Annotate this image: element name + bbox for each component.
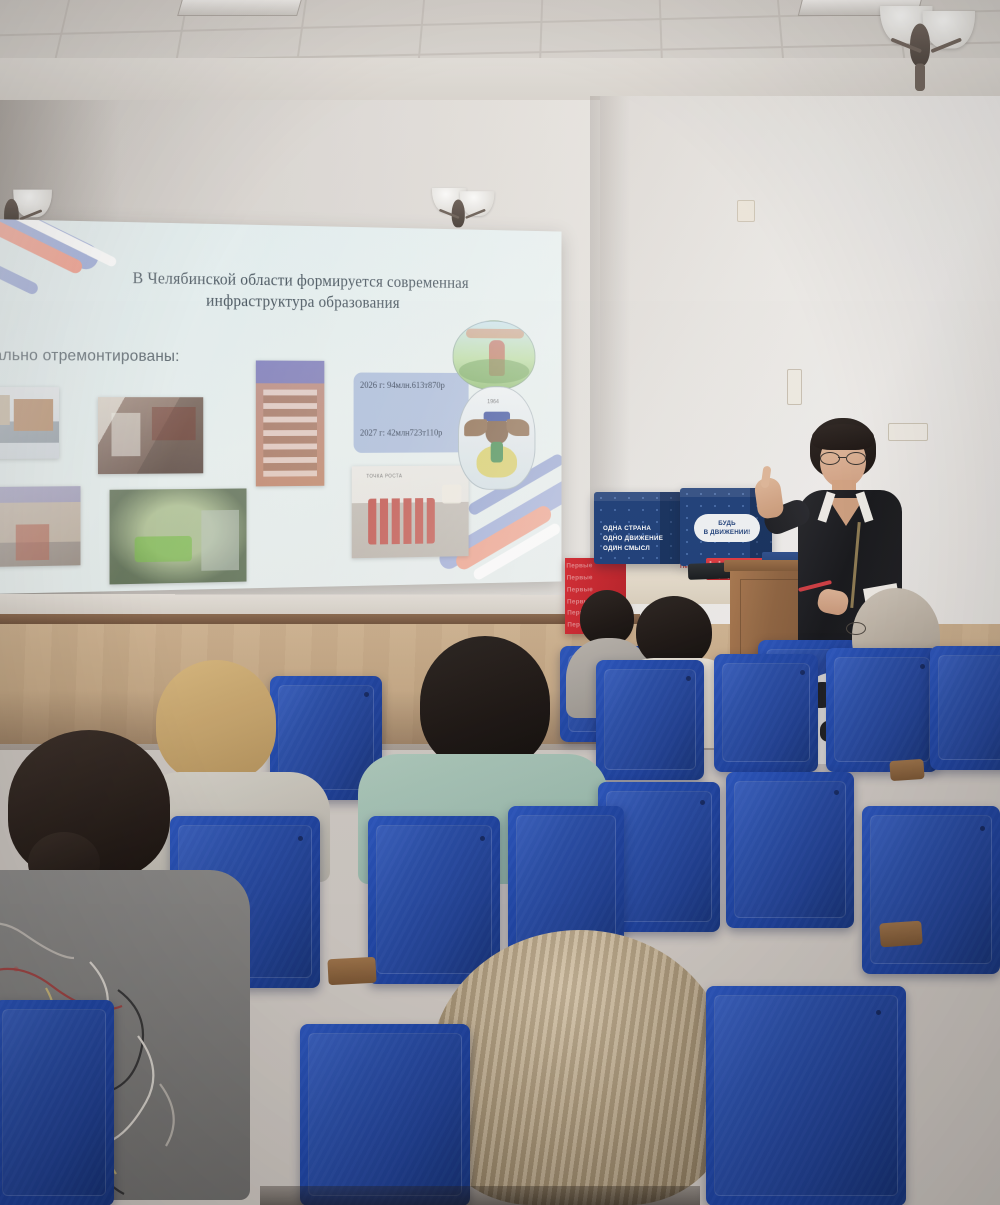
attendee-hair [430, 930, 730, 1205]
auditorium-seat[interactable] [826, 648, 938, 772]
owl-emblem-year: 1964 [487, 399, 499, 405]
tochka-rosta-logo: ТОЧКА РОСТА [366, 474, 402, 480]
branding-cube-left-text: ОДНА СТРАНАОДНО ДВИЖЕНИЕОДИН СМЫСЛ [603, 524, 673, 555]
slide-data-box: 2026 г: 94млн.613т870р 2027 г: 42млн723т… [354, 373, 469, 453]
auditorium-seat[interactable] [368, 816, 500, 984]
presenter-fringe [812, 424, 874, 450]
slide-data-row-2: 2027 г: 42млн723т110р [360, 429, 468, 439]
auditorium-seat[interactable] [726, 772, 854, 928]
slide-subtitle: питально отремонтированы: [0, 347, 258, 366]
owl-school-emblem-icon: 1964 [458, 386, 535, 490]
slide-photo-canteen-corridor [110, 488, 247, 584]
slide-photo-tochka-rosta-team: ТОЧКА РОСТА [352, 465, 469, 558]
auditorium-seat[interactable] [0, 1000, 114, 1205]
seat-armrest [327, 957, 376, 985]
auditorium-seat[interactable] [930, 646, 1000, 770]
branding-cube-right-text: БУДЬВ ДВИЖЕНИИ! [704, 519, 751, 538]
sconce-body [910, 24, 930, 67]
ceiling-panel-light [177, 0, 303, 16]
auditorium-seat[interactable] [596, 660, 704, 780]
slide-photo-school-entrance [0, 486, 80, 567]
auditorium-seat[interactable] [300, 1024, 470, 1205]
auditorium-seat[interactable] [714, 654, 818, 772]
seat-armrest [889, 759, 924, 781]
attendee-hair [156, 660, 276, 782]
slide-photo-classroom-interior [98, 397, 203, 474]
branding-cube-left: ОДНА СТРАНАОДНО ДВИЖЕНИЕОДИН СМЫСЛ [594, 492, 682, 564]
glasses-icon [820, 452, 866, 463]
attendee-glasses-icon [846, 622, 866, 635]
regional-landscape-emblem-icon [453, 320, 536, 390]
slide-data-row-1: 2026 г: 94млн.613т870р [360, 381, 468, 391]
auditorium-seat[interactable] [706, 986, 906, 1205]
presenter-white-collar [822, 492, 872, 522]
slide-photo-school-building [256, 360, 324, 486]
auditorium-seat[interactable] [862, 806, 1000, 974]
light-switch[interactable] [737, 200, 755, 222]
foreground-seat-shadow [260, 1186, 700, 1205]
seat-armrest [879, 921, 923, 948]
projection-screen: В Челябинской области формируется соврем… [0, 219, 561, 594]
slide-photo-school-facade-winter [0, 387, 59, 459]
presentation-photo: В Челябинской области формируется соврем… [0, 0, 1000, 1205]
stage-front-wall [0, 594, 570, 616]
attendee-hair [420, 636, 550, 770]
slide-title: В Челябинской области формируется соврем… [91, 267, 506, 316]
branding-cube-right-bubble: БУДЬВ ДВИЖЕНИИ! [694, 514, 760, 542]
power-socket-group[interactable] [787, 369, 802, 405]
